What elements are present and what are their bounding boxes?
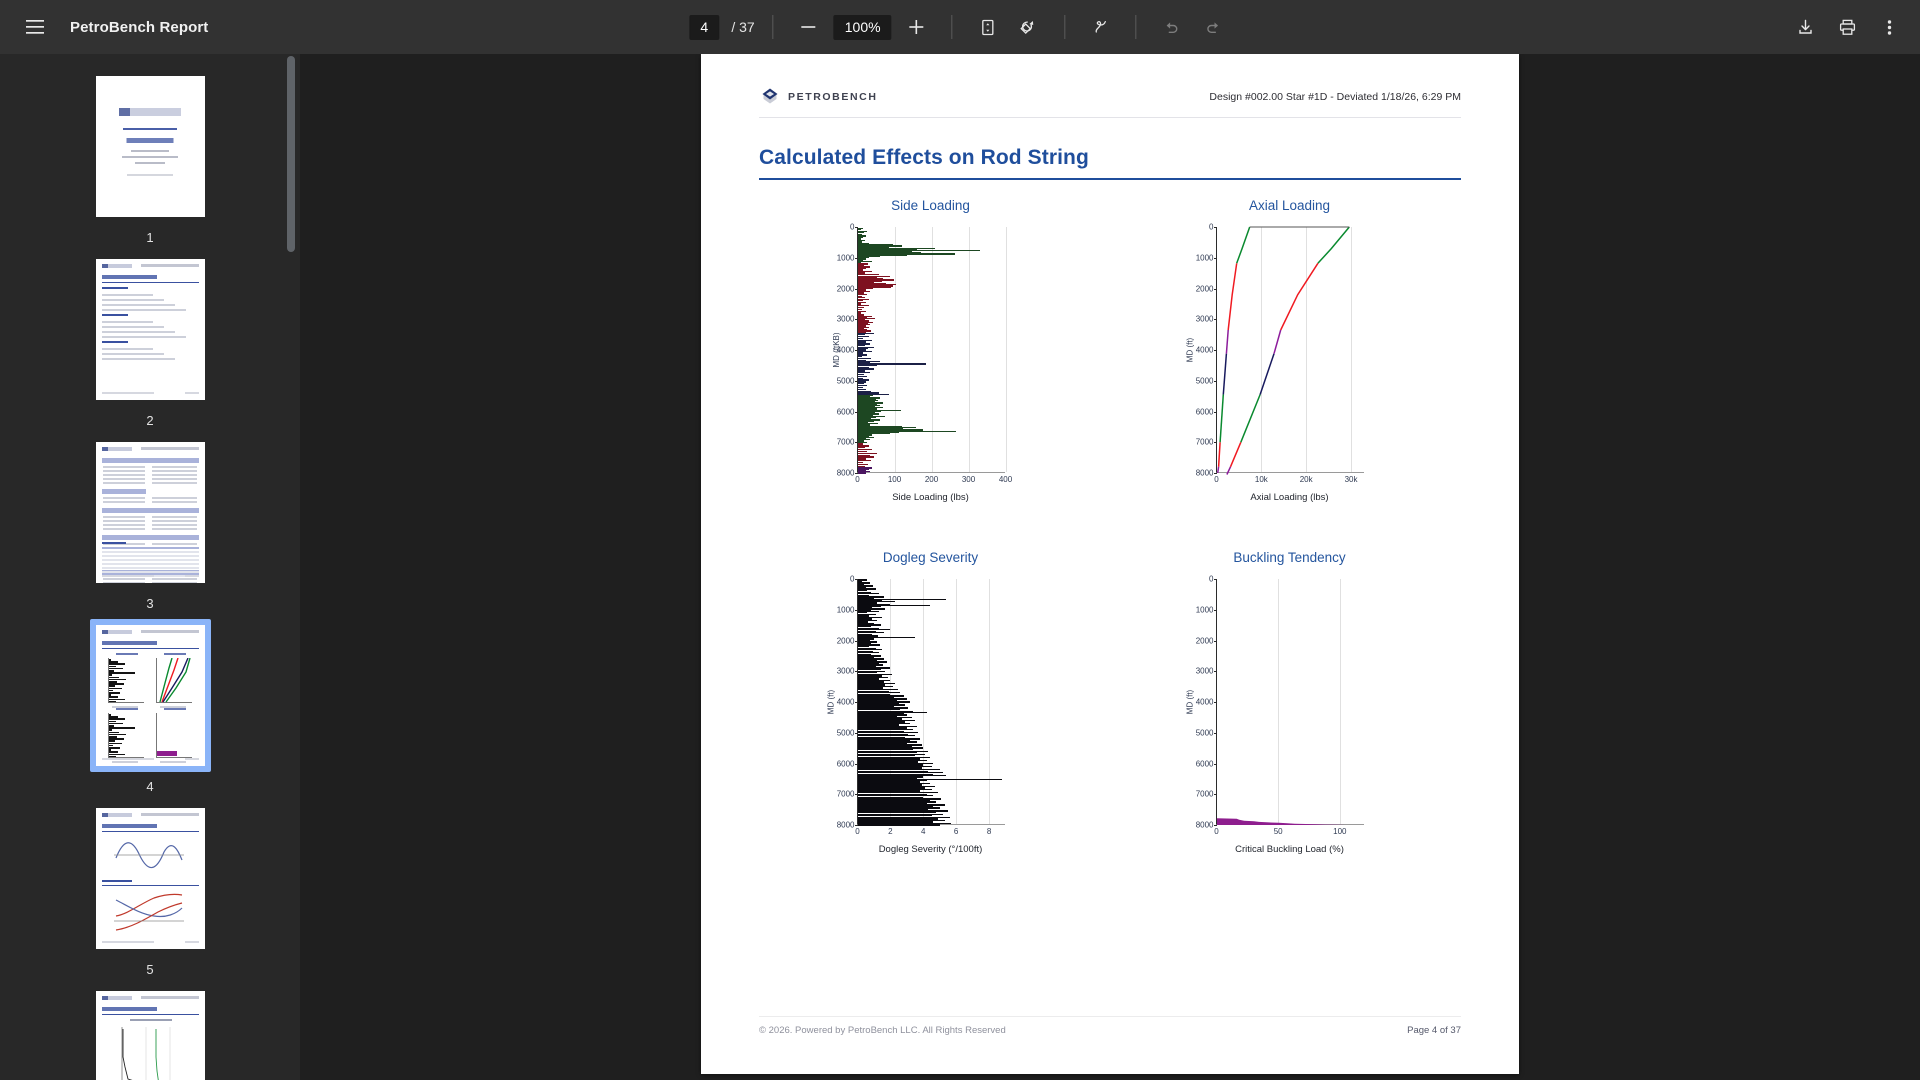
y-tick-label: 3000 bbox=[1196, 667, 1214, 676]
download-icon[interactable] bbox=[1788, 10, 1822, 44]
area-series bbox=[1217, 579, 1365, 825]
line-segment bbox=[1223, 354, 1226, 395]
y-tick-label: 3000 bbox=[1196, 315, 1214, 324]
y-tick-label: 8000 bbox=[1196, 821, 1214, 830]
thumbnail-number: 3 bbox=[146, 596, 153, 611]
chart-title: Side Loading bbox=[751, 198, 1110, 213]
x-axis-label: Dogleg Severity (°/100ft) bbox=[857, 844, 1005, 855]
page-title-rule bbox=[759, 178, 1461, 180]
toolbar-center-controls: 4 / 37 100% bbox=[689, 10, 1230, 44]
grid-line bbox=[989, 579, 990, 824]
toolbar-divider bbox=[1136, 15, 1137, 39]
brand-name: PETROBENCH bbox=[788, 91, 878, 103]
line-segment bbox=[1220, 395, 1223, 443]
plot-area: 0100020003000400050006000700080000100200… bbox=[857, 227, 1005, 473]
fit-to-page-icon[interactable] bbox=[971, 10, 1005, 44]
sidebar-scrollbar-track[interactable] bbox=[287, 54, 295, 1080]
y-tick-label: 4000 bbox=[1196, 346, 1214, 355]
x-tick-label: 6 bbox=[954, 827, 958, 836]
plot-wrapper: MD (ftKB)0100020003000400050006000700080… bbox=[857, 227, 1005, 507]
brand-logo: PETROBENCH bbox=[759, 86, 878, 108]
y-tick-mark bbox=[1214, 825, 1217, 826]
sidebar-scrollbar-thumb[interactable] bbox=[287, 56, 295, 252]
y-tick-label: 2000 bbox=[1196, 284, 1214, 293]
chart-title: Dogleg Severity bbox=[751, 550, 1110, 565]
thumbnail-page-preview bbox=[96, 991, 205, 1080]
line-segment bbox=[1217, 467, 1218, 473]
thumbnail-page-preview bbox=[96, 76, 205, 217]
thumbnail-item-2[interactable]: 2 bbox=[90, 253, 211, 428]
bar bbox=[858, 472, 867, 473]
y-tick-label: 6000 bbox=[1196, 759, 1214, 768]
y-tick-label: 1000 bbox=[837, 253, 855, 262]
chart-buckling-tendency: Buckling TendencyMD (ft)0100020003000400… bbox=[1110, 542, 1469, 894]
thumbnail-number: 1 bbox=[146, 230, 153, 245]
pdf-viewer[interactable]: PETROBENCH Design #002.00 Star #1D - Dev… bbox=[300, 54, 1920, 1080]
y-tick-label: 2000 bbox=[837, 636, 855, 645]
line-segment bbox=[1230, 442, 1240, 467]
y-tick-label: 8000 bbox=[1196, 469, 1214, 478]
print-icon[interactable] bbox=[1830, 10, 1864, 44]
document-title: PetroBench Report bbox=[70, 19, 208, 36]
thumbnail-item-6[interactable]: 6 bbox=[90, 985, 211, 1080]
chart-title: Buckling Tendency bbox=[1110, 550, 1469, 565]
y-tick-label: 3000 bbox=[837, 667, 855, 676]
thumbnail-frame bbox=[90, 619, 211, 772]
grid-line bbox=[956, 579, 957, 824]
grid-line bbox=[932, 227, 933, 472]
header-design-meta: Design #002.00 Star #1D - Deviated 1/18/… bbox=[1209, 91, 1461, 103]
rotate-counterclockwise-icon[interactable] bbox=[1013, 10, 1047, 44]
plot-wrapper: MD (ft)010002000300040005000600070008000… bbox=[1216, 227, 1364, 507]
y-tick-label: 6000 bbox=[837, 407, 855, 416]
y-tick-label: 7000 bbox=[837, 438, 855, 447]
thumbnail-number: 4 bbox=[146, 779, 153, 794]
plot-area: 01000200030004000500060007000800002468 bbox=[857, 579, 1005, 825]
y-tick-label: 1000 bbox=[837, 605, 855, 614]
y-tick-label: 6000 bbox=[1196, 407, 1214, 416]
plot-wrapper: MD (ft)010002000300040005000600070008000… bbox=[1216, 579, 1364, 859]
workspace: 123 4 5 6 bbox=[0, 54, 1920, 1080]
line-segment bbox=[1240, 395, 1259, 443]
x-tick-label: 0 bbox=[855, 475, 859, 484]
y-axis-label: MD (ft) bbox=[1185, 338, 1194, 362]
x-tick-label: 100 bbox=[1333, 827, 1346, 836]
x-axis-label: Axial Loading (lbs) bbox=[1216, 492, 1364, 503]
pdf-page: PETROBENCH Design #002.00 Star #1D - Dev… bbox=[701, 54, 1519, 1074]
y-tick-label: 4000 bbox=[1196, 698, 1214, 707]
y-tick-label: 2000 bbox=[837, 284, 855, 293]
y-tick-label: 4000 bbox=[837, 346, 855, 355]
thumbnail-item-5[interactable]: 5 bbox=[90, 802, 211, 977]
x-tick-label: 50 bbox=[1274, 827, 1283, 836]
y-tick-label: 5000 bbox=[1196, 728, 1214, 737]
line-segment bbox=[1226, 467, 1230, 475]
x-axis-label: Critical Buckling Load (%) bbox=[1216, 844, 1364, 855]
zoom-out-button[interactable] bbox=[792, 10, 826, 44]
line-segment bbox=[1228, 263, 1237, 330]
y-tick-label: 7000 bbox=[1196, 438, 1214, 447]
page-header: PETROBENCH Design #002.00 Star #1D - Dev… bbox=[759, 76, 1461, 118]
x-tick-label: 300 bbox=[962, 475, 975, 484]
thumbnail-frame bbox=[90, 436, 211, 589]
line-segment bbox=[1280, 263, 1317, 330]
line-segment bbox=[1274, 330, 1281, 354]
thumbnail-page-preview bbox=[96, 259, 205, 400]
line-segment bbox=[1260, 354, 1274, 395]
y-tick-label: 6000 bbox=[837, 759, 855, 768]
y-tick-label: 8000 bbox=[837, 469, 855, 478]
thumbnail-frame bbox=[90, 802, 211, 955]
x-tick-label: 0 bbox=[855, 827, 859, 836]
thumbnail-frame bbox=[90, 253, 211, 406]
y-tick-label: 4000 bbox=[837, 698, 855, 707]
page-number-input[interactable]: 4 bbox=[689, 15, 719, 40]
plot-area: 010002000300040005000600070008000010k20k… bbox=[1216, 227, 1364, 473]
y-tick-label: 2000 bbox=[1196, 636, 1214, 645]
thumbnail-sidebar[interactable]: 123 4 5 6 bbox=[0, 54, 300, 1080]
thumbnail-page-preview bbox=[96, 442, 205, 583]
chart-dogleg-severity: Dogleg SeverityMD (ft)010002000300040005… bbox=[751, 542, 1110, 894]
zoom-in-button[interactable] bbox=[900, 10, 934, 44]
thumbnail-frame bbox=[90, 985, 211, 1080]
bar bbox=[858, 824, 940, 825]
y-tick-label: 7000 bbox=[1196, 790, 1214, 799]
thumbnail-item-3[interactable]: 3 bbox=[90, 436, 211, 611]
toolbar-divider bbox=[773, 15, 774, 39]
x-tick-label: 400 bbox=[999, 475, 1012, 484]
y-tick-label: 3000 bbox=[837, 315, 855, 324]
y-tick-label: 1000 bbox=[1196, 253, 1214, 262]
x-tick-label: 4 bbox=[921, 827, 925, 836]
line-segment bbox=[1317, 227, 1348, 263]
thumbnail-page-preview bbox=[96, 625, 205, 766]
thumbnail-page-preview bbox=[96, 808, 205, 949]
plot-wrapper: MD (ft)010002000300040005000600070008000… bbox=[857, 579, 1005, 859]
app-toolbar: PetroBench Report 4 / 37 100% bbox=[0, 0, 1920, 54]
page-title: Calculated Effects on Rod String bbox=[759, 146, 1089, 170]
plot-area: 010002000300040005000600070008000050100 bbox=[1216, 579, 1364, 825]
y-tick-label: 7000 bbox=[837, 790, 855, 799]
line-segment bbox=[1226, 330, 1228, 354]
charts-grid: Side LoadingMD (ftKB)0100020003000400050… bbox=[751, 190, 1469, 894]
y-tick-label: 5000 bbox=[837, 376, 855, 385]
y-axis-label: MD (ft) bbox=[826, 690, 835, 714]
x-axis-label: Side Loading (lbs) bbox=[857, 492, 1005, 503]
chart-title: Axial Loading bbox=[1110, 198, 1469, 213]
y-axis-label: MD (ft) bbox=[1185, 690, 1194, 714]
toolbar-divider bbox=[952, 15, 953, 39]
thumbnail-list: 123 4 5 6 bbox=[0, 54, 300, 1080]
line-segment bbox=[1218, 442, 1220, 467]
grid-line bbox=[1006, 227, 1007, 472]
x-tick-label: 200 bbox=[925, 475, 938, 484]
x-tick-label: 0 bbox=[1214, 827, 1218, 836]
page-footer: © 2026. Powered by PetroBench LLC. All R… bbox=[759, 1016, 1461, 1036]
line-series-group bbox=[1217, 227, 1365, 481]
x-tick-label: 8 bbox=[987, 827, 991, 836]
thumbnail-number: 5 bbox=[146, 962, 153, 977]
line-segment bbox=[1236, 227, 1249, 263]
grid-line bbox=[895, 227, 896, 472]
y-tick-label: 5000 bbox=[1196, 376, 1214, 385]
thumbnail-frame bbox=[90, 70, 211, 223]
page-total-label: / 37 bbox=[731, 19, 754, 35]
redo-icon[interactable] bbox=[1197, 10, 1231, 44]
grid-line bbox=[969, 227, 970, 472]
y-tick-label: 8000 bbox=[837, 821, 855, 830]
x-tick-label: 100 bbox=[888, 475, 901, 484]
footer-copyright: © 2026. Powered by PetroBench LLC. All R… bbox=[759, 1025, 1006, 1036]
footer-page-number: Page 4 of 37 bbox=[1407, 1025, 1461, 1036]
thumbnail-number: 2 bbox=[146, 413, 153, 428]
more-options-icon[interactable] bbox=[1872, 10, 1906, 44]
hamburger-menu-icon[interactable] bbox=[18, 10, 52, 44]
y-tick-label: 1000 bbox=[1196, 605, 1214, 614]
x-tick-label: 2 bbox=[888, 827, 892, 836]
zoom-level-input[interactable]: 100% bbox=[834, 15, 892, 40]
chart-axial-loading: Axial LoadingMD (ft)01000200030004000500… bbox=[1110, 190, 1469, 542]
undo-icon[interactable] bbox=[1155, 10, 1189, 44]
toolbar-divider bbox=[1065, 15, 1066, 39]
thumbnail-item-1[interactable]: 1 bbox=[90, 70, 211, 245]
ink-annotation-icon[interactable] bbox=[1084, 10, 1118, 44]
petrobench-diamond-icon bbox=[759, 86, 781, 108]
y-tick-label: 5000 bbox=[837, 728, 855, 737]
thumbnail-item-4[interactable]: 4 bbox=[90, 619, 211, 794]
chart-side-loading: Side LoadingMD (ftKB)0100020003000400050… bbox=[751, 190, 1110, 542]
